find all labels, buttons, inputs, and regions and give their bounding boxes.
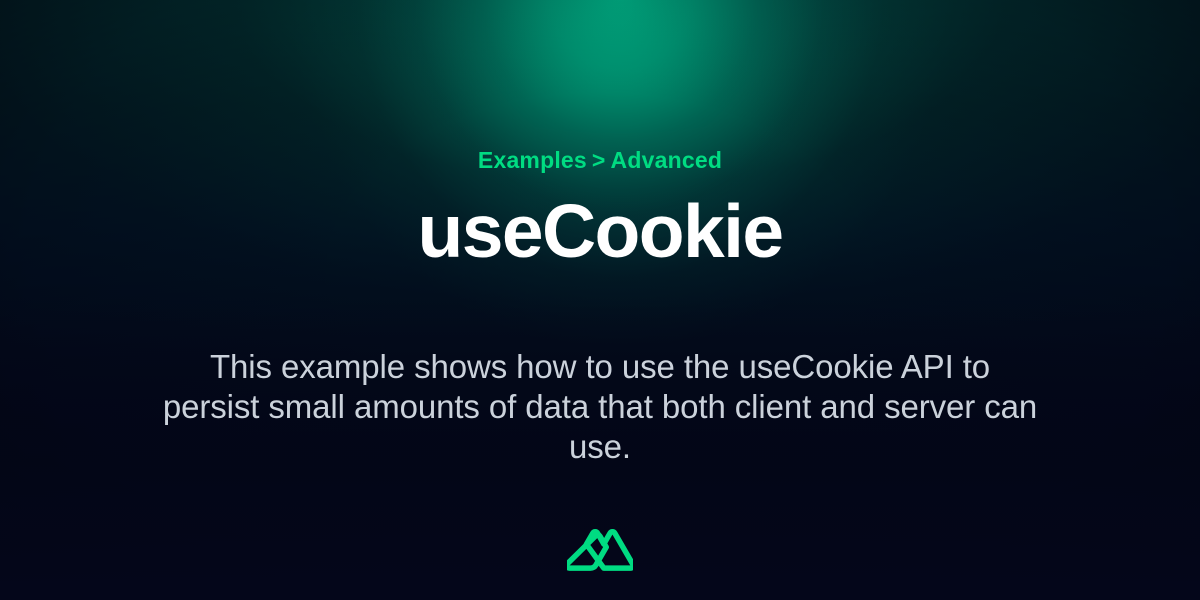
breadcrumb-item-advanced[interactable]: Advanced xyxy=(611,147,723,173)
breadcrumb-separator: > xyxy=(592,147,606,173)
card-content: Examples>Advanced useCookie This example… xyxy=(0,0,1200,500)
logo-container xyxy=(0,528,1200,572)
breadcrumb: Examples>Advanced xyxy=(478,149,722,172)
og-card: Examples>Advanced useCookie This example… xyxy=(0,0,1200,600)
nuxt-logo-icon xyxy=(567,528,633,572)
page-description: This example shows how to use the useCoo… xyxy=(160,347,1040,467)
page-title: useCookie xyxy=(418,194,783,269)
breadcrumb-item-examples[interactable]: Examples xyxy=(478,147,587,173)
